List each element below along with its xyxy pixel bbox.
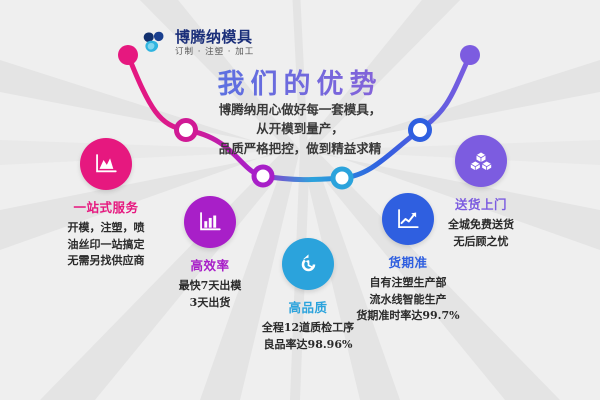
feature-quality-desc: 全程12道质检工序 良品率达98.96%: [244, 320, 372, 353]
company-logo: 博腾纳模具 订制 · 注塑 · 加工: [140, 28, 254, 58]
logo-company-name: 博腾纳模具: [175, 30, 254, 45]
feature-delivery-desc-line-3: 货期准时率达99.7%: [348, 308, 468, 325]
feature-service-desc-line-1: 开模，注塑，喷: [46, 220, 166, 237]
feature-shipping-desc-line-2: 无后顾之忧: [416, 234, 546, 251]
feature-shipping-title: 送货上门: [416, 194, 546, 213]
refresh-clock-icon: [282, 238, 334, 290]
logo-tagline: 订制 · 注塑 · 加工: [175, 48, 254, 57]
mountain-chart-icon: [80, 138, 132, 190]
feature-service-desc-line-2: 油丝印一站搞定: [46, 237, 166, 254]
feature-delivery-desc-line-2: 流水线智能生产: [348, 292, 468, 309]
feature-service[interactable]: 一站式服务 开模，注塑，喷 油丝印一站搞定 无需另找供应商: [46, 138, 166, 270]
boxes-cube-icon: [455, 135, 507, 187]
butterfly-logo-icon: [140, 28, 170, 58]
infographic-canvas: 博腾纳模具 订制 · 注塑 · 加工 我们的优势 博腾纳用心做好每一套模具， 从…: [0, 0, 600, 400]
page-title: 我们的优势: [0, 62, 600, 101]
feature-delivery-title: 货期准: [348, 252, 468, 271]
feature-shipping-desc: 全城免费送货 无后顾之忧: [416, 217, 546, 250]
feature-service-desc: 开模，注塑，喷 油丝印一站搞定 无需另找供应商: [46, 220, 166, 270]
bar-chart-icon: [184, 196, 236, 248]
feature-quality-desc-line-2: 良品率达98.96%: [244, 337, 372, 354]
feature-service-title: 一站式服务: [46, 197, 166, 216]
feature-shipping-desc-line-1: 全城免费送货: [416, 217, 546, 234]
feature-service-desc-line-3: 无需另找供应商: [46, 253, 166, 270]
subtitle-line-1: 博腾纳用心做好每一套模具，: [0, 100, 600, 119]
feature-shipping[interactable]: 送货上门 全城免费送货 无后顾之忧: [416, 135, 546, 250]
feature-delivery-desc-line-1: 自有注塑生产部: [348, 275, 468, 292]
feature-delivery-desc: 自有注塑生产部 流水线智能生产 货期准时率达99.7%: [348, 275, 468, 325]
